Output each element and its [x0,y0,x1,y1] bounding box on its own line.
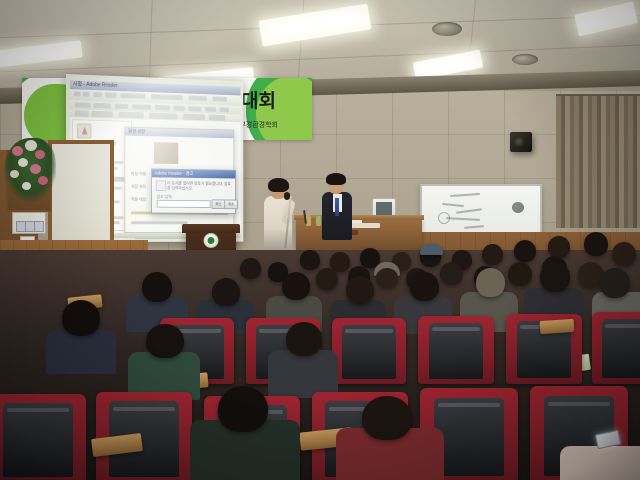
audience-head [482,244,503,265]
audience-head [440,262,463,285]
audience-head [600,268,630,298]
presenter-hair [268,178,289,192]
audience-head [612,242,636,266]
audience-head [316,268,338,290]
audience-head [362,396,412,440]
microphone-icon [284,192,290,200]
flower-petal [30,164,41,174]
auditorium-seat[interactable] [592,312,640,384]
dialog-cancel-button[interactable]: 취소 [224,199,238,209]
audience-head [142,272,172,302]
dialog-message: 이 문서를 열려면 암호가 필요합니다. 암호를 입력하십시오. [167,180,232,190]
audience-head [146,324,184,358]
flower-petal [25,140,37,151]
audience-head [282,272,310,300]
audience-shoulders [268,350,338,398]
wall-speaker-icon [510,132,532,152]
audience-head [62,300,100,336]
dialog-ok-button[interactable]: 확인 [211,199,225,209]
window-curtain [556,96,640,228]
flower-petal [18,158,28,167]
mid-label-2: 저장 위치: [131,184,147,190]
audience-head-cap [420,244,443,255]
mid-label-1: 파일 이름: [131,171,147,177]
warning-icon [156,180,166,191]
moderator-hair [326,173,346,185]
control-switch[interactable] [34,221,44,232]
auditorium-seat[interactable] [332,318,406,384]
wall-control-panel[interactable] [12,212,46,234]
audience-head [548,236,570,258]
ceiling-speaker-2-icon [512,54,538,65]
preview-image [154,142,178,164]
audience-head [540,262,570,292]
audience-head [476,268,505,297]
audience-head [584,232,608,256]
ceiling-speaker-icon [432,22,462,36]
flower-petal [35,150,45,159]
audience-head [212,278,240,306]
audience-head [514,240,536,262]
audience-head [376,268,398,288]
paper-stack [350,223,380,228]
preferences-title: 환경 설정 [125,128,233,139]
seat-tablet-arm [540,319,575,334]
adobe-pdf-icon [77,123,92,138]
dialog-title: Adobe Reader - 경고 [152,169,235,178]
auditorium-seat[interactable] [418,316,494,384]
flower-frame [6,150,52,212]
water-bottle [306,215,311,226]
university-emblem-icon [204,233,219,248]
audience-head [508,262,532,286]
flower-petal [38,176,48,185]
audience-shoulders [46,330,116,374]
audience-head [346,276,374,304]
head-table [296,218,422,252]
audience-head [286,322,322,356]
audience-head [240,258,261,279]
banner-organizer: 부경환경학회 [239,120,278,130]
water-bottle [316,216,321,226]
flower-petal [22,182,31,190]
flower-petal [10,170,19,178]
lecture-hall-photo: 2 술대회 일시 부경환경학회 시험 - Adobe Reader [0,0,640,480]
whiteboard-sketch [512,202,524,213]
auditorium-seat[interactable] [0,394,86,480]
flower-petal [12,146,23,156]
audience-head [300,250,320,270]
password-dialog[interactable]: Adobe Reader - 경고 이 문서를 열려면 암호가 필요합니다. 암… [151,168,236,213]
moderator-tie [335,198,339,216]
mid-label-3: 적용 대상: [131,197,147,203]
audience-head [410,272,439,301]
audience-head [218,386,268,432]
password-input[interactable] [157,200,211,208]
lectern-top [182,224,240,233]
audience-shoulders [560,446,640,480]
